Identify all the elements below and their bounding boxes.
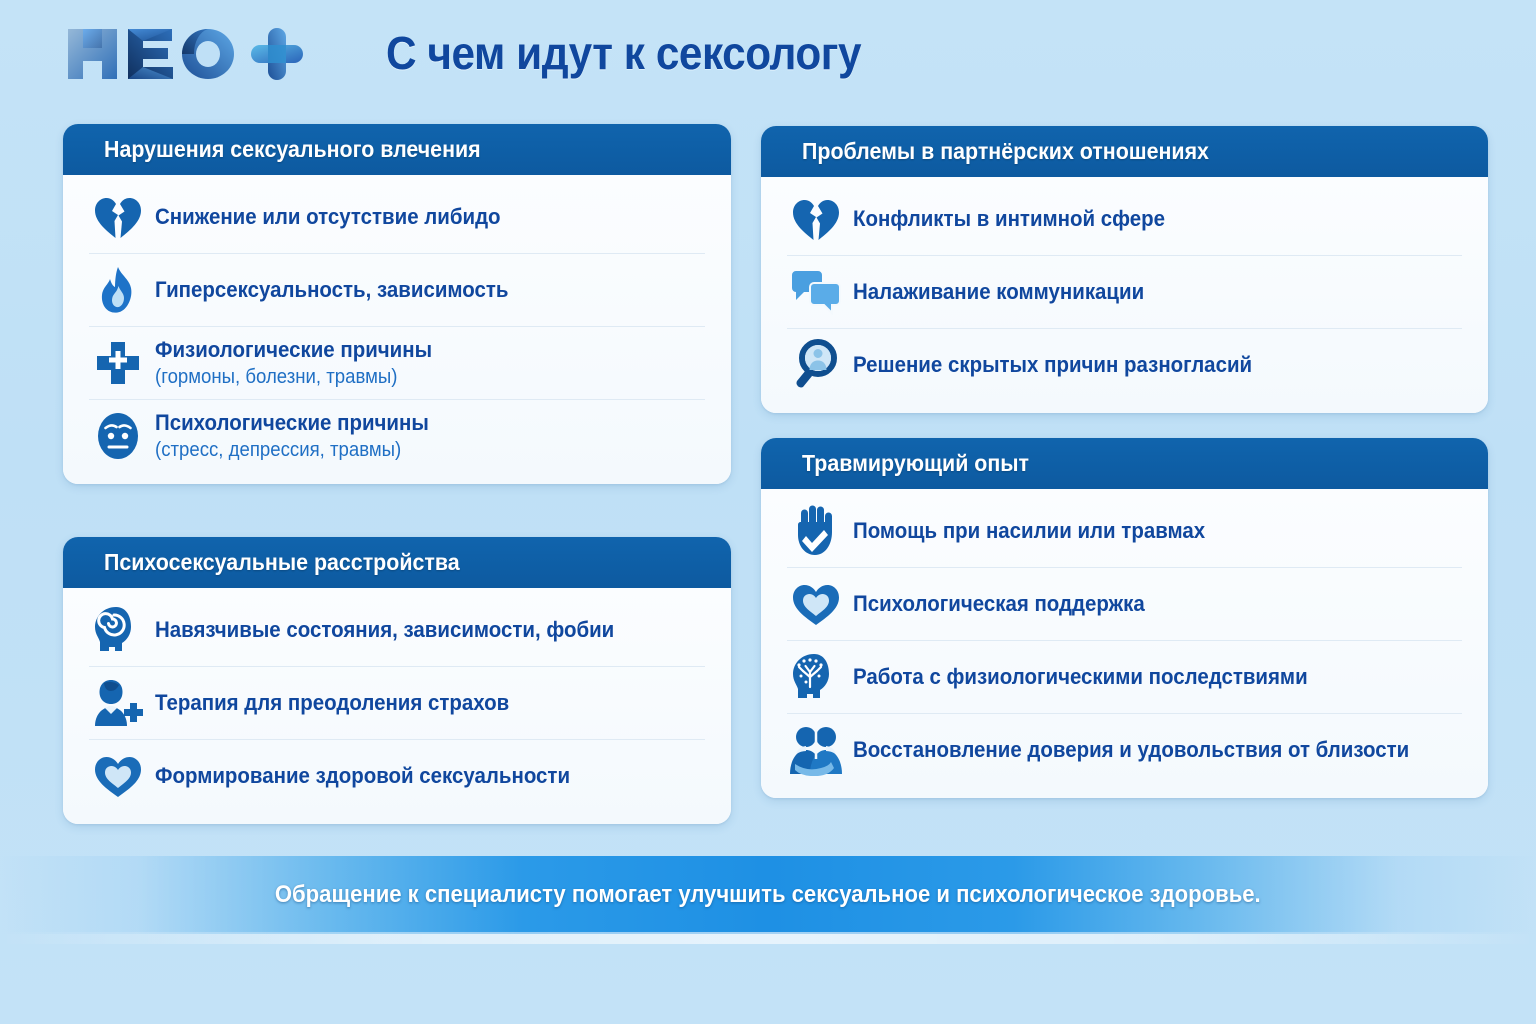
heart-in-heart-icon (89, 747, 147, 805)
card-libido-header: Нарушения сексуального влечения (63, 124, 731, 175)
broken-heart-icon (787, 190, 845, 248)
list-item[interactable]: Налаживание коммуникации (787, 256, 1462, 329)
card-trauma-title: Травмирующий опыт (802, 450, 1029, 477)
card-psychosexual-body: Навязчивые состояния, зависимости, фобии… (63, 588, 731, 824)
list-item-label: Налаживание коммуникации (853, 279, 1144, 306)
footer-banner: Обращение к специалисту помогает улучшит… (0, 856, 1536, 934)
flame-icon (89, 261, 147, 319)
heart-in-heart-icon (787, 575, 845, 633)
list-item[interactable]: Восстановление доверия и удовольствия от… (787, 714, 1462, 786)
card-psychosexual-title: Психосексуальные расстройства (104, 549, 460, 576)
head-tree-icon (787, 648, 845, 706)
list-item[interactable]: Помощь при насилии или травмах (787, 495, 1462, 568)
list-item-label: Психологическая поддержка (853, 591, 1145, 618)
list-item[interactable]: Терапия для преодоления страхов (89, 667, 705, 740)
list-item-label: Восстановление доверия и удовольствия от… (853, 737, 1409, 764)
couple-embrace-icon (787, 721, 845, 779)
medical-cross-icon (89, 334, 147, 392)
footer-text-emphasis-end: сексуальное и психологическое здоровье. (792, 881, 1261, 908)
card-libido-title: Нарушения сексуального влечения (104, 136, 481, 163)
card-partner-header: Проблемы в партнёрских отношениях (761, 126, 1488, 177)
list-item[interactable]: Навязчивые состояния, зависимости, фобии (89, 594, 705, 667)
list-item[interactable]: Гиперсексуальность, зависимость (89, 254, 705, 327)
list-item[interactable]: Психологическая поддержка (787, 568, 1462, 641)
card-partner: Проблемы в партнёрских отношениях Конфли… (761, 126, 1488, 413)
list-item-label: Навязчивые состояния, зависимости, фобии (155, 617, 614, 644)
list-item-label: Физиологические причины (155, 337, 432, 364)
list-item[interactable]: Физиологические причины (гормоны, болезн… (89, 327, 705, 400)
list-item[interactable]: Снижение или отсутствие либидо (89, 181, 705, 254)
neo-plus-logo (62, 23, 307, 85)
list-item-label: Снижение или отсутствие либидо (155, 204, 501, 231)
list-item-sublabel: (стресс, депрессия, травмы) (155, 438, 429, 462)
list-item-label: Работа с физиологическими последствиями (853, 664, 1308, 691)
card-trauma-body: Помощь при насилии или травмах Психологи… (761, 489, 1488, 798)
card-psychosexual: Психосексуальные расстройства Навязчивые… (63, 537, 731, 824)
page-header: С чем идут к сексологу (0, 0, 1536, 118)
list-item[interactable]: Психологические причины (стресс, депресс… (89, 400, 705, 472)
card-partner-title: Проблемы в партнёрских отношениях (802, 138, 1209, 165)
magnifier-person-icon (787, 336, 845, 394)
card-psychosexual-header: Психосексуальные расстройства (63, 537, 731, 588)
footer-text-emphasis-start: Обращение (275, 881, 402, 908)
broken-heart-icon (89, 188, 147, 246)
page-title: С чем идут к сексологу (386, 26, 861, 80)
list-item[interactable]: Конфликты в интимной сфере (787, 183, 1462, 256)
card-libido: Нарушения сексуального влечения Снижение… (63, 124, 731, 484)
list-item-label: Формирование здоровой сексуальности (155, 763, 570, 790)
footer-text-middle: к специалисту помогает улучшить (402, 881, 792, 908)
speech-bubbles-icon (787, 263, 845, 321)
list-item[interactable]: Работа с физиологическими последствиями (787, 641, 1462, 714)
list-item-label: Гиперсексуальность, зависимость (155, 277, 508, 304)
sad-face-icon (89, 407, 147, 465)
head-spiral-icon (89, 601, 147, 659)
list-item-label: Терапия для преодоления страхов (155, 690, 509, 717)
card-trauma: Травмирующий опыт Помощь при насилии или… (761, 438, 1488, 798)
list-item-label: Психологические причины (155, 410, 429, 437)
card-trauma-header: Травмирующий опыт (761, 438, 1488, 489)
card-libido-body: Снижение или отсутствие либидо Гиперсекс… (63, 175, 731, 484)
list-item-label: Помощь при насилии или травмах (853, 518, 1205, 545)
card-partner-body: Конфликты в интимной сфере Налаживание к… (761, 177, 1488, 413)
list-item-sublabel: (гормоны, болезни, травмы) (155, 365, 432, 389)
person-plus-icon (89, 674, 147, 732)
hand-check-icon (787, 502, 845, 560)
footer-text: Обращение к специалисту помогает улучшит… (275, 881, 1261, 909)
list-item[interactable]: Формирование здоровой сексуальности (89, 740, 705, 812)
list-item-label: Конфликты в интимной сфере (853, 206, 1165, 233)
list-item[interactable]: Решение скрытых причин разногласий (787, 329, 1462, 401)
list-item-label: Решение скрытых причин разногласий (853, 352, 1252, 379)
